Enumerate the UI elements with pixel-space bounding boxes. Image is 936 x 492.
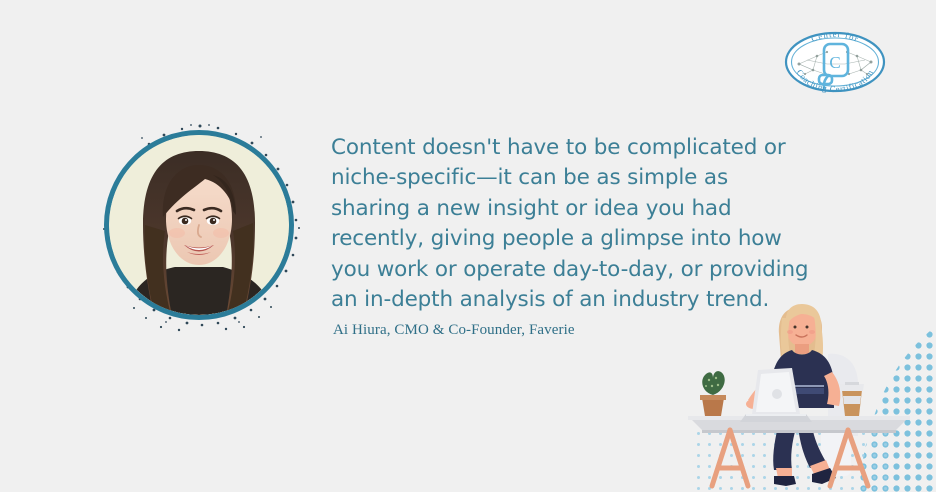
logo-monogram: C xyxy=(829,53,840,72)
quote-block: Content doesn't have to be complicated o… xyxy=(331,133,841,315)
avatar xyxy=(96,122,308,334)
woman-working-at-desk-illustration xyxy=(682,296,936,492)
quote-attribution: Ai Hiura, CMO & Co-Founder, Faverie xyxy=(333,320,575,340)
quote-graphic-card: C Center for Coaching Certification xyxy=(0,0,936,492)
quote-text: Content doesn't have to be complicated o… xyxy=(331,133,841,315)
avatar-ring xyxy=(104,130,294,320)
center-for-coaching-certification-logo[interactable]: C Center for Coaching Certification xyxy=(783,30,887,94)
avatar-photo xyxy=(109,135,289,315)
